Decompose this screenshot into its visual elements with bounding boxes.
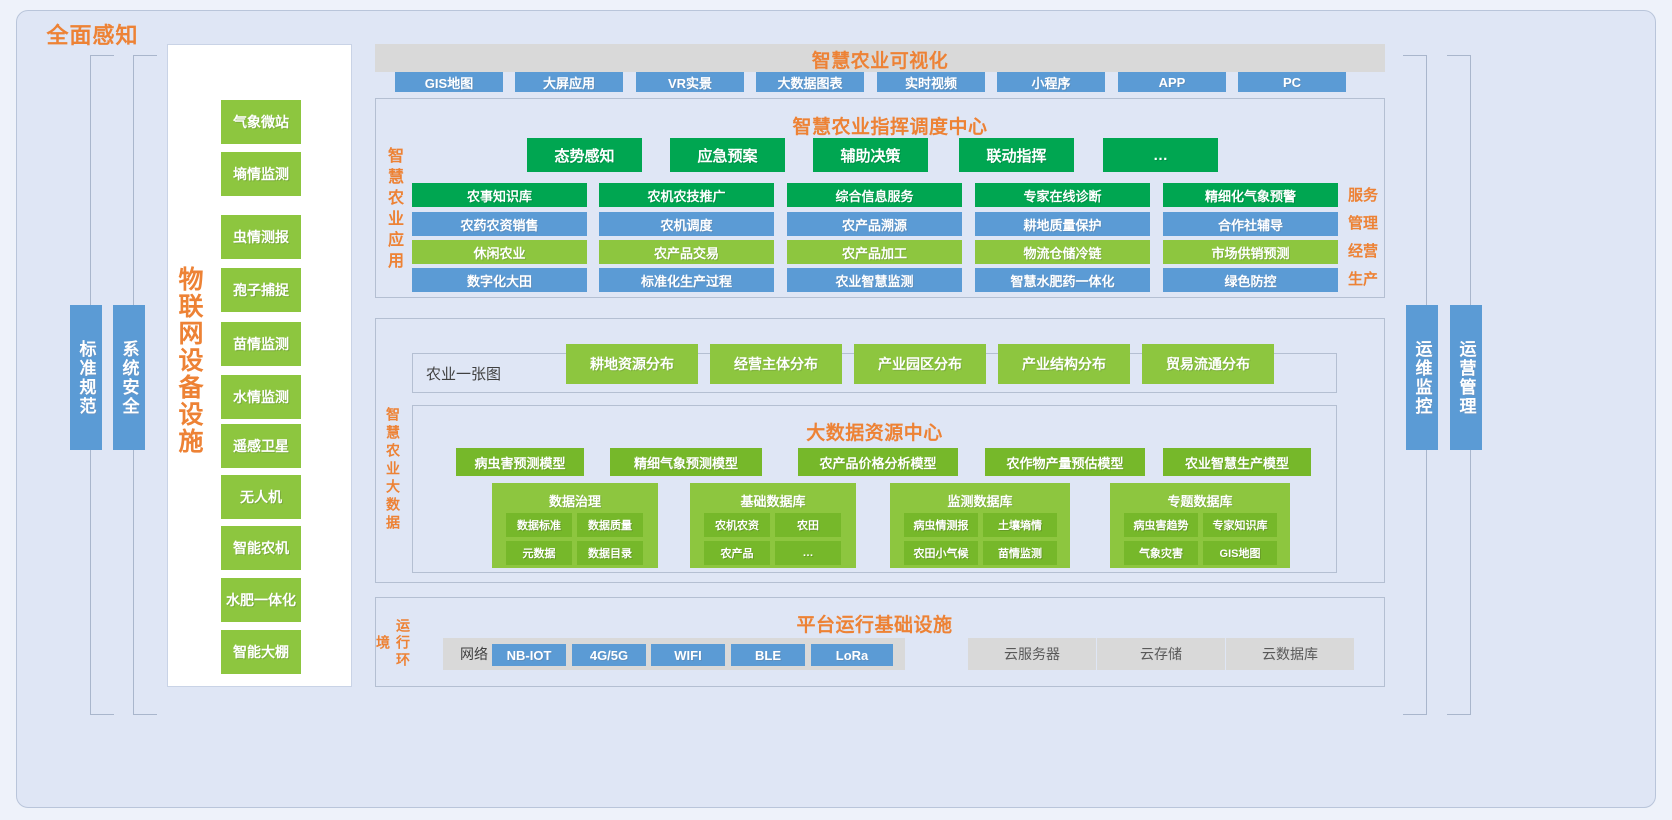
sense-item-label: 墒情监测 (233, 166, 289, 183)
db-group-title: 监测数据库 (890, 491, 1070, 510)
sense-item-water-monitor[interactable]: 水情监测 (221, 375, 301, 419)
one-map-item-business-entities[interactable]: 经营主体分布 (710, 344, 842, 384)
category-service: 服务 (1348, 184, 1378, 205)
network-4g5g[interactable]: 4G/5G (572, 644, 646, 666)
model-price-analysis[interactable]: 农产品价格分析模型 (798, 448, 958, 476)
sense-item-label: 虫情测报 (233, 229, 289, 246)
network-label-item: 4G/5G (590, 648, 628, 663)
model-label: 农作物产量预估模型 (1006, 453, 1123, 472)
app-cell-expert-diagnosis[interactable]: 专家在线诊断 (975, 183, 1150, 207)
app-cell-label: 农产品溯源 (842, 215, 907, 234)
app-cell-label: 农机农技推广 (647, 186, 725, 205)
network-label-item: LoRa (836, 648, 869, 663)
command-center-title: 智慧农业指挥调度中心 (410, 112, 1370, 139)
sense-item-label: 水肥一体化 (226, 592, 296, 609)
db-cell[interactable]: 苗情监测 (983, 541, 1057, 565)
sense-item-label: 无人机 (240, 489, 282, 506)
application-side-label: 智慧农业应用 (382, 130, 404, 290)
channel-label: 小程序 (1031, 73, 1070, 92)
app-cell-label: 农产品加工 (842, 243, 907, 262)
db-cell[interactable]: GIS地图 (1203, 541, 1277, 565)
app-cell-label: 精细化气象预警 (1205, 186, 1296, 205)
app-cell-label: 数字化大田 (467, 271, 532, 290)
db-group-thematic-database: 专题数据库 病虫害趋势 专家知识库 气象灾害 GIS地图 (1110, 483, 1290, 568)
one-map-item-label: 耕地资源分布 (590, 354, 674, 374)
channel-app[interactable]: APP (1118, 72, 1226, 92)
channel-label: 实时视频 (905, 73, 957, 92)
model-label: 病虫害预测模型 (474, 453, 565, 472)
cloud-label: 云存储 (1140, 644, 1182, 664)
bigdata-side-label: 智慧农业大数据 (382, 390, 404, 550)
network-nbiot[interactable]: NB-IOT (492, 644, 566, 666)
db-cell[interactable]: 病虫害趋势 (1124, 513, 1198, 537)
smart-agriculture-architecture-diagram: { "colors": { "background": "#dfe6f5", "… (0, 0, 1672, 820)
sense-item-label: 遥感卫星 (233, 438, 289, 455)
model-smart-production[interactable]: 农业智慧生产模型 (1163, 448, 1311, 476)
pillar-standards[interactable]: 标准规范 (70, 305, 102, 450)
sense-item-weather-station[interactable]: 气象微站 (221, 100, 301, 144)
pillar-ops-monitoring-label: 运维监控 (1412, 340, 1433, 416)
iot-devices-label: 物联网设备设施 (172, 215, 206, 505)
pillar-operations-management[interactable]: 运营管理 (1450, 305, 1482, 450)
app-cell-label: 绿色防控 (1224, 271, 1276, 290)
app-cell-label: 农业智慧监测 (835, 271, 913, 290)
db-cell[interactable]: 农田小气候 (904, 541, 978, 565)
one-map-item-label: 产业园区分布 (878, 354, 962, 374)
model-label: 精细气象预测模型 (634, 453, 738, 472)
app-cell-label: 智慧水肥药一体化 (1010, 271, 1114, 290)
network-label-item: BLE (755, 648, 781, 663)
db-group-title: 基础数据库 (690, 491, 856, 510)
sense-item-label: 气象微站 (233, 114, 289, 131)
app-cell-label: 专家在线诊断 (1023, 186, 1101, 205)
channel-label: VR实景 (668, 73, 712, 92)
app-cell-coop-guidance[interactable]: 合作社辅导 (1163, 212, 1338, 236)
sense-item-spore-capture[interactable]: 孢子捕捉 (221, 268, 301, 312)
model-label: 农业智慧生产模型 (1185, 453, 1289, 472)
one-map-label: 农业一张图 (426, 353, 546, 393)
app-cell-label: 标准化生产过程 (641, 271, 732, 290)
app-cell-machinery-extension[interactable]: 农机农技推广 (599, 183, 774, 207)
app-cell-product-traceability[interactable]: 农产品溯源 (787, 212, 962, 236)
category-production: 生产 (1348, 268, 1378, 289)
cloud-storage[interactable]: 云存储 (1097, 638, 1225, 670)
db-group-monitoring-database: 监测数据库 病虫情测报 土壤墒情 农田小气候 苗情监测 (890, 483, 1070, 568)
one-map-item-label: 贸易流通分布 (1166, 354, 1250, 374)
visualization-title: 智慧农业可视化 (375, 46, 1385, 73)
channel-pc[interactable]: PC (1238, 72, 1346, 92)
app-cell-label: 合作社辅导 (1218, 215, 1283, 234)
app-cell-agrochemical-sales[interactable]: 农药农资销售 (412, 212, 587, 236)
app-cell-smart-monitoring[interactable]: 农业智慧监测 (787, 268, 962, 292)
app-cell-farmland-quality[interactable]: 耕地质量保护 (975, 212, 1150, 236)
resource-center-title: 大数据资源中心 (412, 418, 1337, 445)
model-fine-weather-forecast[interactable]: 精细气象预测模型 (610, 448, 762, 476)
db-cell[interactable]: 病虫情测报 (904, 513, 978, 537)
app-cell-label: 农药农资销售 (460, 215, 538, 234)
one-map-item-label: 产业结构分布 (1022, 354, 1106, 374)
sense-item-drone[interactable]: 无人机 (221, 475, 301, 519)
infrastructure-title: 平台运行基础设施 (412, 610, 1337, 637)
app-cell-label: 农产品交易 (654, 243, 719, 262)
channel-large-screen[interactable]: 大屏应用 (515, 72, 623, 92)
db-group-basic-database: 基础数据库 农机农资 农田 农产品 … (690, 483, 856, 568)
sense-item-smart-machinery[interactable]: 智能农机 (221, 526, 301, 570)
network-lora[interactable]: LoRa (811, 644, 893, 666)
app-cell-fine-weather-warning[interactable]: 精细化气象预警 (1163, 183, 1338, 207)
app-cell-label: 农机调度 (660, 215, 712, 234)
db-cell[interactable]: … (775, 541, 841, 565)
channel-label: GIS地图 (425, 73, 473, 92)
app-cell-label: 休闲农业 (473, 243, 525, 262)
db-cell[interactable]: 气象灾害 (1124, 541, 1198, 565)
network-label-item: WIFI (674, 648, 701, 663)
db-cell[interactable]: 农田 (775, 513, 841, 537)
sense-item-label: 水情监测 (233, 389, 289, 406)
channel-live-video[interactable]: 实时视频 (877, 72, 985, 92)
app-cell-product-processing[interactable]: 农产品加工 (787, 240, 962, 264)
app-cell-market-forecast[interactable]: 市场供销预测 (1163, 240, 1338, 264)
network-label-item: NB-IOT (507, 648, 552, 663)
command-joint-command[interactable]: 联动指挥 (959, 138, 1074, 172)
one-map-item-industrial-parks[interactable]: 产业园区分布 (854, 344, 986, 384)
cloud-server[interactable]: 云服务器 (968, 638, 1096, 670)
pillar-system-security[interactable]: 系统安全 (113, 305, 145, 450)
one-map-item-trade-flow[interactable]: 贸易流通分布 (1142, 344, 1274, 384)
channel-bigdata-charts[interactable]: 大数据图表 (756, 72, 864, 92)
db-cell[interactable]: 土壤墒情 (983, 513, 1057, 537)
category-operation: 经营 (1348, 240, 1378, 261)
db-group-title: 数据治理 (492, 491, 658, 510)
db-cell[interactable]: 数据目录 (577, 541, 643, 565)
cloud-label: 云服务器 (1004, 644, 1060, 664)
db-group-data-governance: 数据治理 数据标准 数据质量 元数据 数据目录 (492, 483, 658, 568)
pillar-ops-monitoring[interactable]: 运维监控 (1406, 305, 1438, 450)
db-cell[interactable]: 专家知识库 (1203, 513, 1277, 537)
network-ble[interactable]: BLE (731, 644, 805, 666)
pillar-system-security-label: 系统安全 (119, 340, 140, 416)
app-cell-standard-production[interactable]: 标准化生产过程 (599, 268, 774, 292)
pillar-operations-management-label: 运营管理 (1456, 340, 1477, 416)
app-cell-label: 农事知识库 (467, 186, 532, 205)
app-cell-logistics-cold-chain[interactable]: 物流仓储冷链 (975, 240, 1150, 264)
sensing-title: 全面感知 (0, 18, 185, 50)
channel-label: PC (1283, 75, 1301, 90)
sense-item-water-fertilizer-integration[interactable]: 水肥一体化 (221, 578, 301, 622)
one-map-item-label: 经营主体分布 (734, 354, 818, 374)
sense-item-label: 智能大棚 (233, 644, 289, 661)
cloud-database[interactable]: 云数据库 (1226, 638, 1354, 670)
app-cell-label: 综合信息服务 (835, 186, 913, 205)
app-cell-digital-field[interactable]: 数字化大田 (412, 268, 587, 292)
sense-item-remote-sensing-satellite[interactable]: 遥感卫星 (221, 424, 301, 468)
sense-item-label: 智能农机 (233, 540, 289, 557)
command-label: 应急预案 (697, 145, 757, 166)
db-cell[interactable]: 数据标准 (506, 513, 572, 537)
command-label: 联动指挥 (986, 145, 1046, 166)
command-emergency-plan[interactable]: 应急预案 (670, 138, 785, 172)
sense-item-soil-moisture[interactable]: 墒情监测 (221, 152, 301, 196)
model-yield-estimation[interactable]: 农作物产量预估模型 (985, 448, 1145, 476)
channel-label: 大数据图表 (777, 73, 842, 92)
app-cell-label: 耕地质量保护 (1023, 215, 1101, 234)
app-cell-green-control[interactable]: 绿色防控 (1163, 268, 1338, 292)
model-label: 农产品价格分析模型 (819, 453, 936, 472)
db-group-title: 专题数据库 (1110, 491, 1290, 510)
one-map-item-farmland-resources[interactable]: 耕地资源分布 (566, 344, 698, 384)
app-cell-machinery-dispatch[interactable]: 农机调度 (599, 212, 774, 236)
sense-item-seedling-monitor[interactable]: 苗情监测 (221, 322, 301, 366)
channel-miniprogram[interactable]: 小程序 (997, 72, 1105, 92)
infrastructure-side-label: 运行环境 (382, 612, 404, 674)
category-management: 管理 (1348, 212, 1378, 233)
command-label: … (1153, 147, 1168, 164)
one-map-item-industry-structure[interactable]: 产业结构分布 (998, 344, 1130, 384)
command-more[interactable]: … (1103, 138, 1218, 172)
app-cell-water-fert-pesticide[interactable]: 智慧水肥药一体化 (975, 268, 1150, 292)
app-cell-label: 市场供销预测 (1211, 243, 1289, 262)
cloud-label: 云数据库 (1262, 644, 1318, 664)
channel-label: APP (1159, 75, 1186, 90)
command-situation-awareness[interactable]: 态势感知 (527, 138, 642, 172)
db-cell[interactable]: 数据质量 (577, 513, 643, 537)
app-cell-integrated-info-service[interactable]: 综合信息服务 (787, 183, 962, 207)
command-label: 辅助决策 (840, 145, 900, 166)
model-pest-forecast[interactable]: 病虫害预测模型 (456, 448, 584, 476)
sense-item-label: 苗情监测 (233, 336, 289, 353)
app-cell-product-trading[interactable]: 农产品交易 (599, 240, 774, 264)
channel-gis-map[interactable]: GIS地图 (395, 72, 503, 92)
pillar-standards-label: 标准规范 (76, 340, 97, 416)
app-cell-leisure-agriculture[interactable]: 休闲农业 (412, 240, 587, 264)
app-cell-agri-knowledge-base[interactable]: 农事知识库 (412, 183, 587, 207)
db-cell[interactable]: 农机农资 (704, 513, 770, 537)
network-wifi[interactable]: WIFI (651, 644, 725, 666)
command-decision-support[interactable]: 辅助决策 (813, 138, 928, 172)
db-cell[interactable]: 元数据 (506, 541, 572, 565)
sense-item-label: 孢子捕捉 (233, 282, 289, 299)
app-cell-label: 物流仓储冷链 (1023, 243, 1101, 262)
command-label: 态势感知 (554, 145, 614, 166)
sense-item-pest-report[interactable]: 虫情测报 (221, 215, 301, 259)
db-cell[interactable]: 农产品 (704, 541, 770, 565)
channel-vr[interactable]: VR实景 (636, 72, 744, 92)
sense-item-smart-greenhouse[interactable]: 智能大棚 (221, 630, 301, 674)
channel-label: 大屏应用 (543, 73, 595, 92)
